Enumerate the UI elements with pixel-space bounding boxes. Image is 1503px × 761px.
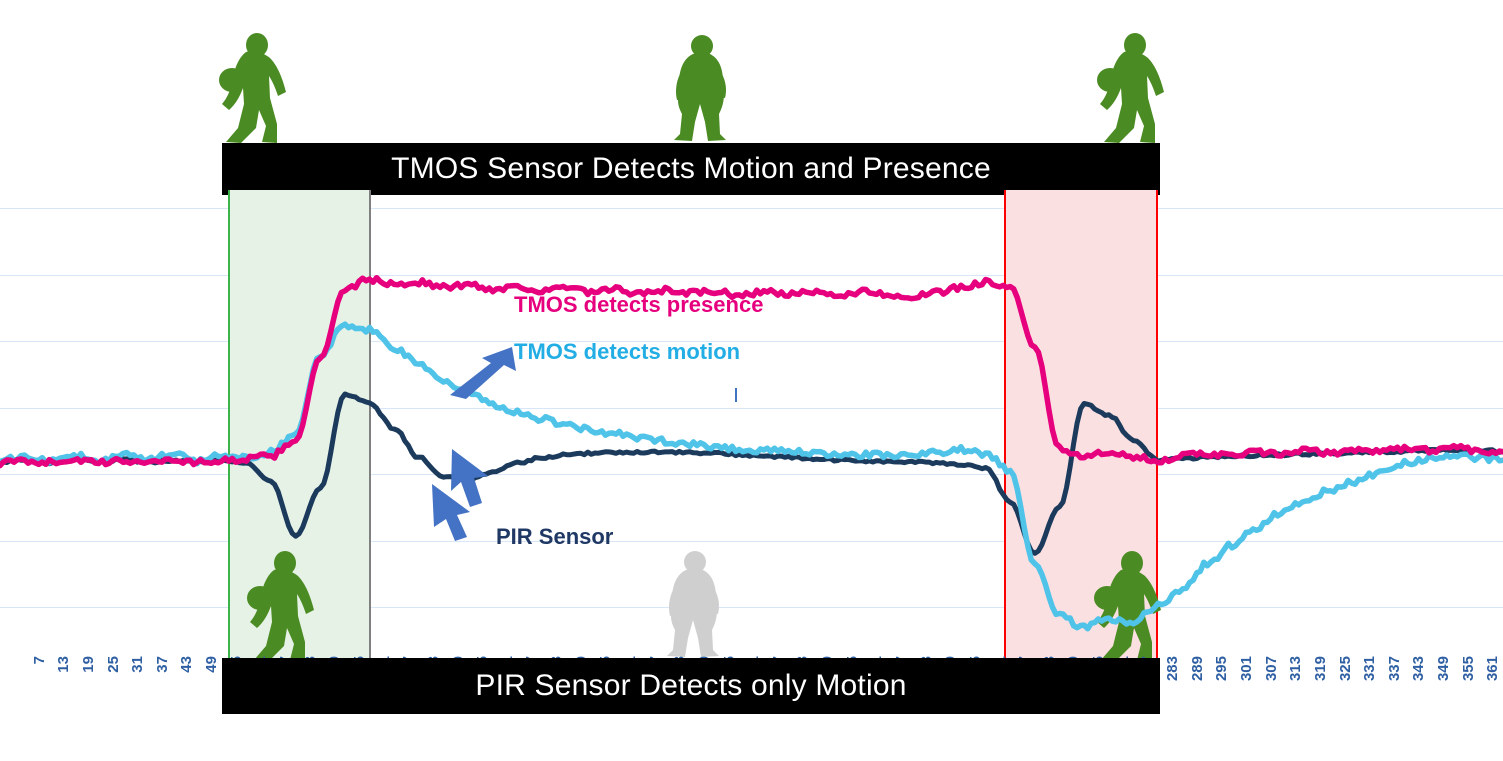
x-axis-tick-label: 319: [1312, 656, 1329, 681]
x-axis-tick-label: 301: [1238, 656, 1255, 681]
x-axis-tick-label: 295: [1213, 656, 1230, 681]
x-axis-tick-label: 43: [178, 656, 195, 673]
annotation-tmos-motion: TMOS detects motion: [514, 339, 740, 365]
series-line-pir-sensor: [0, 394, 1503, 553]
walking-person-top-right-icon: [1078, 32, 1178, 144]
x-axis-tick-label: 355: [1460, 656, 1477, 681]
x-axis-tick-label: 37: [154, 656, 171, 673]
x-axis-tick-label: 331: [1361, 656, 1378, 681]
x-axis-tick-label: 283: [1164, 656, 1181, 681]
x-axis-tick-label: 31: [129, 656, 146, 673]
x-axis-tick-label: 361: [1484, 656, 1501, 681]
x-axis-tick-label: 7: [31, 656, 48, 664]
annotation-tmos-presence: TMOS detects presence: [514, 292, 763, 318]
x-axis-tick-label: 19: [80, 656, 97, 673]
series-line-tmos-motion: [0, 324, 1503, 629]
arrow-to-motion-icon: [448, 345, 520, 401]
x-axis-tick-label: 313: [1287, 656, 1304, 681]
x-axis-tick-label: 49: [203, 656, 220, 673]
standing-person-top-mid-icon: [662, 34, 742, 144]
x-axis-tick-label: 25: [105, 656, 122, 673]
x-axis-tick-label: 337: [1386, 656, 1403, 681]
banner-bottom: PIR Sensor Detects only Motion: [222, 658, 1160, 714]
x-axis-tick-label: 13: [55, 656, 72, 673]
walking-person-top-left-icon: [200, 32, 300, 144]
chart-figure: TMOS Sensor Detects Motion and Presence: [0, 0, 1503, 761]
arrow-to-pir-icon: [430, 480, 502, 542]
x-axis-tick-label: 289: [1189, 656, 1206, 681]
x-axis-tick-label: 325: [1337, 656, 1354, 681]
annotation-pir-sensor: PIR Sensor: [496, 524, 613, 550]
x-axis-tick-label: 349: [1435, 656, 1452, 681]
x-axis-tick-label: 343: [1410, 656, 1427, 681]
plot-area: TMOS detects presence TMOS detects motio…: [0, 190, 1503, 670]
data-series-layer: [0, 190, 1503, 670]
banner-top: TMOS Sensor Detects Motion and Presence: [222, 143, 1160, 195]
x-axis-tick-label: 307: [1263, 656, 1280, 681]
